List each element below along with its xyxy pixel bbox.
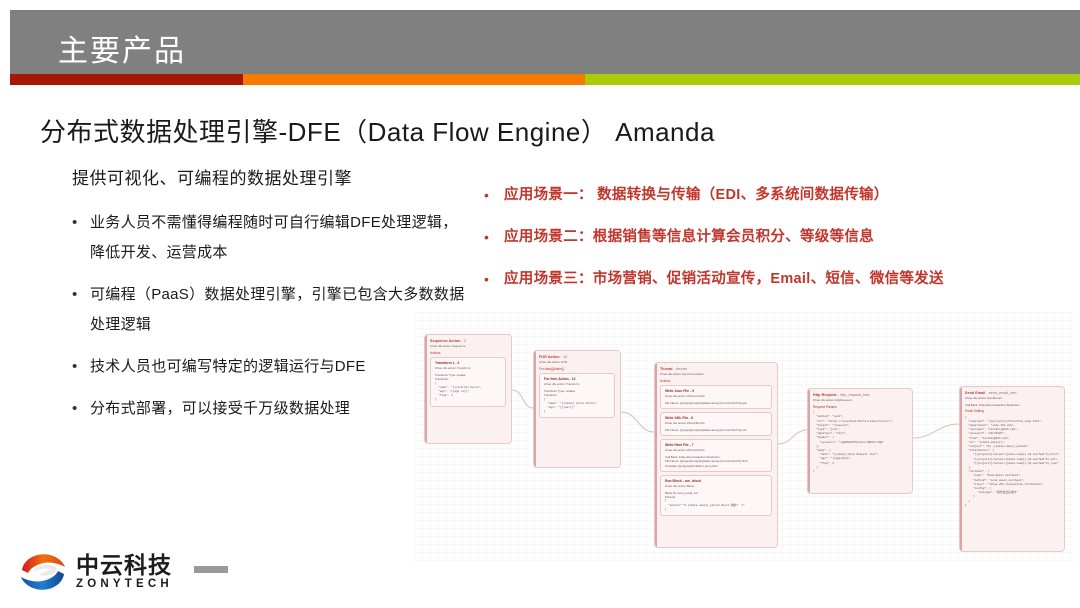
section-heading: 分布式数据处理引擎-DFE（Data Flow Engine） Amanda	[40, 112, 715, 149]
list-item: • 技术人员也可编写特定的逻辑运行与DFE	[72, 352, 472, 382]
node-code: { "method": "post", "url": "https://loca…	[813, 411, 907, 474]
right-scenarios-column: • 应用场景一： 数据转换与传输（EDI、多系统间数据传输） • 应用场景二：根…	[484, 184, 1064, 310]
lead-text: 提供可视化、可编程的数据处理引擎	[72, 166, 472, 192]
inner-subtitle: lchao.dfe.action.Transform	[435, 366, 501, 371]
flow-diagram: Sequence Action - 2 lchao.dfe.action.Seq…	[414, 312, 1074, 562]
inner-kv: File Name: {{project}}/output/{{data.nam…	[665, 428, 767, 432]
diagram-node-send-email[interactable]: Send Email - send_email_test lchao.dfe.a…	[959, 386, 1065, 552]
inner-subtitle: lchao.dfe.action.WriteHtmlFile	[665, 448, 767, 453]
list-item: • 业务人员不需懂得编程随时可自行编辑DFE处理逻辑，降低开发、运营成本	[72, 208, 472, 268]
node-subtitle: lchao.dfe.action.Sequence	[430, 344, 506, 349]
logo-text-en: ZONYTECH	[76, 578, 173, 591]
node-subtitle: lchao.dfe.action.AsyncInvocation	[660, 372, 772, 377]
inner-subtitle: lchao.dfe.action.WriteXMLFile	[665, 421, 767, 426]
bullet-marker-icon: •	[484, 184, 504, 206]
node-inner-action[interactable]: Write Html File - 7 lchao.dfe.action.Wri…	[660, 439, 772, 472]
list-item: • 应用场景三：市场营销、促销活动宣传，Email、短信、微信等发送	[484, 268, 1064, 290]
node-section-label: Email Setting	[965, 409, 1059, 414]
node-inner-action[interactable]: Run Block - run_block lchao.dfe.action.B…	[660, 475, 772, 516]
bullet-marker-icon: •	[72, 208, 90, 238]
inner-subtitle: lchao.dfe.action.WriteJsonFile	[665, 394, 767, 399]
bullet-marker-icon: •	[484, 226, 504, 248]
scenario-text: 应用场景一： 数据转换与传输（EDI、多系统间数据传输）	[504, 184, 1064, 206]
page-title: 主要产品	[58, 32, 186, 72]
bullet-marker-icon: •	[72, 352, 90, 382]
inner-subtitle: lchao.dfe.action.Transform	[544, 382, 610, 387]
list-item: • 可编程（PaaS）数据处理引擎，引擎已包含大多数数据处理逻辑	[72, 280, 472, 340]
diagram-node-thread[interactable]: Thread - thread lchao.dfe.action.AsyncIn…	[654, 362, 778, 548]
node-section-label: Actions	[660, 379, 772, 384]
header-bar: 主要产品	[10, 10, 1080, 74]
list-item: • 应用场景一： 数据转换与传输（EDI、多系统间数据传输）	[484, 184, 1064, 206]
accent-strip	[10, 74, 1080, 85]
accent-segment-orange	[243, 74, 585, 85]
footer-logo: 中云科技 ZONYTECH	[18, 546, 208, 600]
diagram-node-sequence-action[interactable]: Sequence Action - 2 lchao.dfe.action.Seq…	[424, 334, 512, 444]
inner-kv: Template: {{project}}/html/html_temp.htm…	[665, 464, 767, 468]
inner-code: { "name": "{{record}} Hello", "age": "{{…	[435, 382, 501, 403]
bullet-marker-icon: •	[484, 268, 504, 290]
inner-code: { "action":"%-{{data.name}}_phone1 Block…	[665, 499, 767, 512]
list-item: • 分布式部署，可以接受千万级数据处理	[72, 394, 472, 424]
bullet-marker-icon: •	[72, 394, 90, 424]
node-inner-action[interactable]: For Item Action - 12 lchao.dfe.action.Tr…	[539, 373, 615, 418]
diagram-node-for-action[interactable]: FOR Action - 10 lchao.dfe.action.FOR For…	[533, 350, 621, 468]
left-content-column: 提供可视化、可编程的数据处理引擎 • 业务人员不需懂得编程随时可自行编辑DFE处…	[72, 166, 472, 436]
scenario-text: 应用场景二：根据销售等信息计算会员积分、等级等信息	[504, 226, 1064, 248]
logo-rule	[194, 566, 228, 573]
inner-code: { "name": "{{name}} Hello Child", "age":…	[544, 398, 610, 415]
node-inner-action[interactable]: Write Json File - 5 lchao.dfe.action.Wri…	[660, 385, 772, 409]
node-subtitle: lchao.dfe.action.FOR	[539, 360, 615, 365]
node-section-label: For data({{folder}}	[539, 367, 615, 372]
node-subtitle: lchao.dfe.action.SendEmail	[965, 396, 1059, 401]
accent-segment-green	[585, 74, 1080, 85]
node-inner-action[interactable]: Write XML File - 6 lchao.dfe.action.Writ…	[660, 412, 772, 436]
logo-text-cn: 中云科技	[76, 552, 172, 578]
node-kv: Call Back: lchao.dfe.transaction.TestAct…	[965, 403, 1059, 407]
bullet-marker-icon: •	[72, 280, 90, 310]
node-code: { "template": "{{project}}/html/html_tem…	[965, 416, 1059, 508]
inner-subtitle: lchao.dfe.action.Block	[665, 484, 767, 489]
node-section-label: Actions	[430, 351, 506, 356]
node-inner-action[interactable]: Transform 1 - 3 lchao.dfe.action.Transfo…	[430, 357, 506, 406]
inner-kv: File Name: {{project}}/output/{{data.nam…	[665, 401, 767, 405]
slide: 主要产品 分布式数据处理引擎-DFE（Data Flow Engine） Ama…	[0, 0, 1080, 608]
node-section-label: Request Params	[813, 405, 907, 410]
scenario-text: 应用场景三：市场营销、促销活动宣传，Email、短信、微信等发送	[504, 268, 1064, 290]
diagram-node-http-request[interactable]: Http Request - http_request_test lchao.d…	[807, 388, 913, 494]
zonytech-logo-icon	[18, 548, 68, 596]
accent-segment-red	[10, 74, 243, 85]
list-item: • 应用场景二：根据销售等信息计算会员积分、等级等信息	[484, 226, 1064, 248]
bullet-text: 业务人员不需懂得编程随时可自行编辑DFE处理逻辑，降低开发、运营成本	[90, 208, 472, 268]
node-subtitle: lchao.dfe.action.HttpRequest	[813, 398, 907, 403]
